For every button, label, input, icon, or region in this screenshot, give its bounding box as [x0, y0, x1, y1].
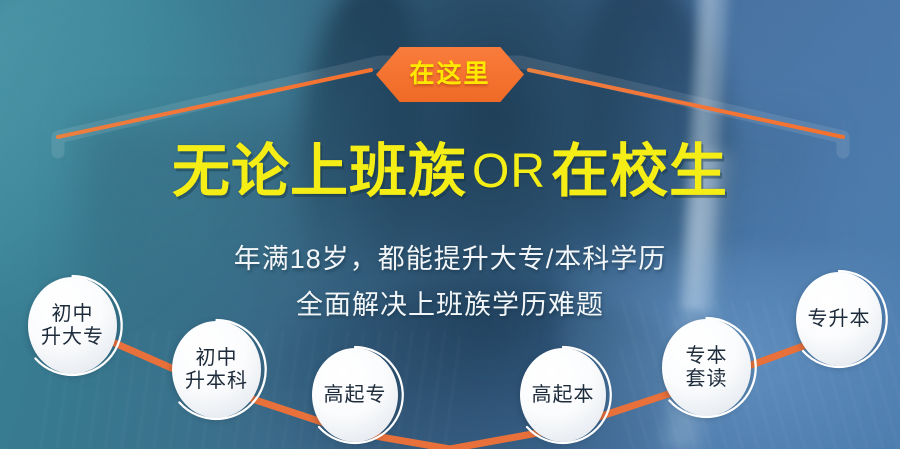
- ribbon-label: 在这里: [409, 62, 490, 87]
- subtitle-line-1: 年满18岁，都能提升大专/本科学历: [0, 237, 900, 276]
- promo-banner: 在这里 无论上班族OR在校生 年满18岁，都能提升大专/本科学历 全面解决上班族…: [0, 0, 900, 449]
- node-label: 高起专: [324, 384, 387, 406]
- node-label: 初中 升大专: [41, 303, 104, 348]
- node-label-line: 升本科: [185, 370, 248, 392]
- node-label-line: 专升本: [808, 308, 871, 330]
- node-label: 专升本: [808, 308, 871, 330]
- node-zhuben-taodu[interactable]: 专本 套读: [655, 312, 758, 423]
- node-label-line: 高起专: [324, 384, 387, 406]
- node-label-line: 初中: [41, 303, 104, 325]
- node-label-line: 专本: [686, 345, 728, 367]
- node-chuzhong-benke[interactable]: 初中 升本科: [165, 314, 268, 425]
- node-label-line: 升大专: [41, 326, 104, 348]
- node-gaoqiben[interactable]: 高起本: [513, 341, 613, 449]
- node-label-line: 高起本: [532, 384, 595, 406]
- headline-part-or: OR: [467, 148, 551, 196]
- headline-part-2: 在校生: [551, 143, 728, 201]
- node-label: 高起本: [532, 384, 595, 406]
- ribbon-badge: 在这里: [376, 47, 524, 102]
- node-label-line: 套读: [686, 368, 728, 390]
- node-label: 专本 套读: [686, 345, 728, 390]
- node-label: 初中 升本科: [185, 347, 248, 392]
- headline-part-1: 无论上班族: [172, 143, 467, 201]
- subtitle-line-2: 全面解决上班族学历难题: [0, 283, 900, 322]
- node-zhuanshengben[interactable]: 专升本: [789, 265, 889, 373]
- node-chuzhong-dazhuan[interactable]: 初中 升大专: [21, 270, 124, 381]
- node-gaoqizhuan[interactable]: 高起专: [305, 341, 405, 449]
- node-label-line: 初中: [185, 347, 248, 369]
- headline: 无论上班族OR在校生: [0, 143, 900, 201]
